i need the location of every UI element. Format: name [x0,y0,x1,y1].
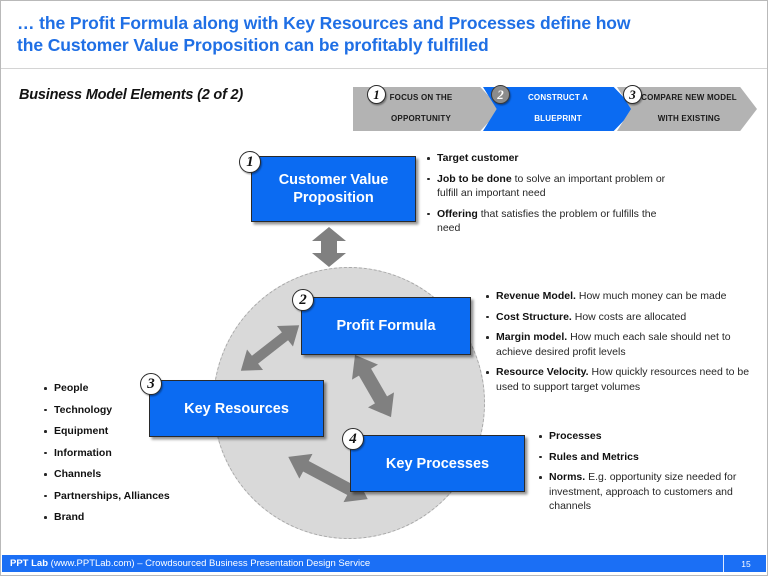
process-step-1-line2: OPPORTUNITY [386,114,457,125]
list-item: Resource Velocity. How quickly resources… [485,365,757,394]
list-item: People [43,381,213,395]
bullet-rest: How much money can be made [576,290,727,302]
box-1-number-badge: 1 [239,151,261,173]
section-subtitle: Business Model Elements (2 of 2) [19,87,243,103]
bullet-lead: Offering [437,208,478,220]
list-item: Offering that satisfies the problem or f… [426,207,681,236]
process-step-3-number-badge: 3 [623,85,642,104]
list-item: Rules and Metrics [538,450,760,465]
bullet-lead: Cost Structure. [496,311,572,323]
process-step-3-line1: COMPARE NEW MODEL [637,93,741,104]
process-step-1-number-badge: 1 [367,85,386,104]
process-step-2-line1: CONSTRUCT A [524,93,592,104]
list-item: Equipment [43,424,213,438]
footer-description: (www.PPTLab.com) – Crowdsourced Business… [48,558,370,569]
page-title-line1: … the Profit Formula along with Key Reso… [17,13,630,33]
list-item: Margin model. How much each sale should … [485,330,757,359]
box-2-number-badge: 2 [292,289,314,311]
bullet-lead: Target customer [437,152,519,164]
list-item: Norms. E.g. opportunity size needed for … [538,470,760,514]
footer-brand: PPT Lab [10,558,48,569]
list-item: Brand [43,510,213,524]
list-item: Target customer [426,151,681,166]
bullet-lead: Revenue Model. [496,290,576,302]
bullets-key-processes: Processes Rules and Metrics Norms. E.g. … [538,429,760,520]
arrow-vertical-cvp-to-circle [308,227,350,267]
bullet-list: Revenue Model. How much money can be mad… [485,289,757,394]
page-title: … the Profit Formula along with Key Reso… [17,12,753,56]
bullets-profit-formula: Revenue Model. How much money can be mad… [485,289,757,400]
slide: … the Profit Formula along with Key Reso… [0,0,768,576]
bullet-lead: Processes [549,430,602,442]
bullets-customer-value-proposition: Target customer Job to be done to solve … [426,151,681,242]
list-item: Processes [538,429,760,444]
footer-divider [723,555,724,572]
list-item: Technology [43,403,213,417]
list-item: Cost Structure. How costs are allocated [485,310,757,325]
process-steps-bar: FOCUS ON THE OPPORTUNITY CONSTRUCT A BLU… [353,87,757,131]
bullet-lead: Norms. [549,471,585,483]
list-item: Job to be done to solve an important pro… [426,172,681,201]
list-item: Channels [43,467,213,481]
bullet-list: People Technology Equipment Information … [43,381,213,524]
slide-footer: PPT Lab (www.PPTLab.com) – Crowdsourced … [2,555,766,572]
page-title-line2: the Customer Value Proposition can be pr… [17,34,753,56]
slide-header: … the Profit Formula along with Key Reso… [1,1,768,69]
bullet-lead: Rules and Metrics [549,451,639,463]
footer-credit: PPT Lab (www.PPTLab.com) – Crowdsourced … [10,558,723,569]
list-item: Partnerships, Alliances [43,489,213,503]
bullet-lead: Resource Velocity. [496,366,589,378]
bullet-list: Target customer Job to be done to solve … [426,151,681,236]
list-item: Information [43,446,213,460]
bullets-key-resources: People Technology Equipment Information … [43,381,213,532]
process-step-2-number-badge: 2 [491,85,510,104]
box-customer-value-proposition[interactable]: Customer Value Proposition [251,156,416,222]
bullet-rest: How costs are allocated [572,311,686,323]
list-item: Revenue Model. How much money can be mad… [485,289,757,304]
process-step-1-line1: FOCUS ON THE [386,93,457,104]
bullet-lead: Margin model. [496,331,567,343]
bullet-list: Processes Rules and Metrics Norms. E.g. … [538,429,760,514]
arrow-key-resources-to-profit-formula [229,315,311,381]
box-3-number-badge: 3 [140,373,162,395]
bullet-lead: Job to be done [437,173,512,185]
process-step-2-line2: BLUEPRINT [524,114,592,125]
box-key-processes[interactable]: Key Processes [350,435,525,492]
process-step-3-line2: WITH EXISTING [637,114,741,125]
box-4-number-badge: 4 [342,428,364,450]
page-number: 15 [734,559,758,569]
box-profit-formula[interactable]: Profit Formula [301,297,471,355]
